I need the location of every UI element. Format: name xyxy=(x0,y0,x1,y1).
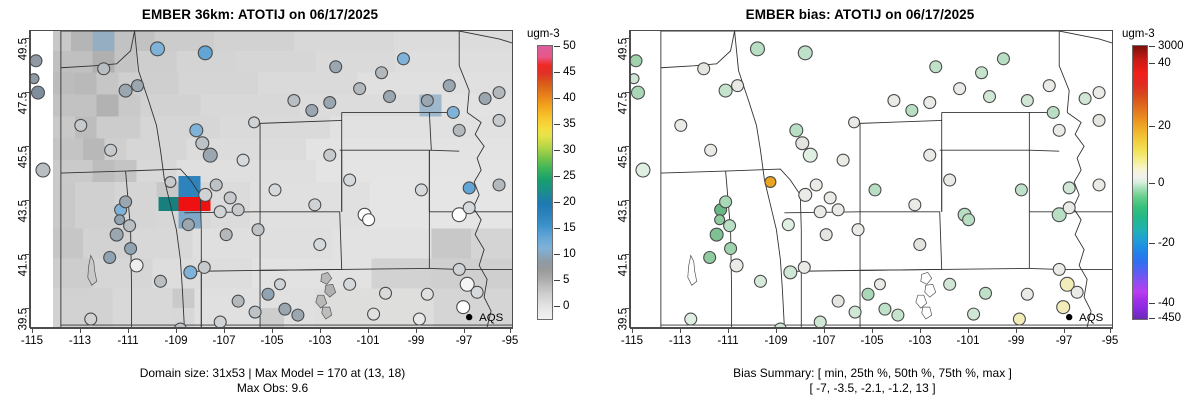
colorbar-tick-label: 20 xyxy=(563,196,576,208)
x-tick-label: -101 xyxy=(956,335,979,347)
y-tick-label: 43.5 xyxy=(617,200,629,222)
x-tick-label: -109 xyxy=(764,335,787,347)
x-tick-label: -103 xyxy=(908,335,931,347)
x-tick-label: -95 xyxy=(502,335,519,347)
x-tick-label: -101 xyxy=(356,335,379,347)
y-tick-label: 45.5 xyxy=(17,146,29,168)
bias-y-axis: 49.5 47.5 45.5 43.5 41.5 39.5 xyxy=(608,30,630,328)
aqs-marker-icon xyxy=(466,314,472,320)
colorbar-tick-label: 0 xyxy=(563,300,569,312)
x-tick-label: -113 xyxy=(669,335,691,347)
colorbar-tick-label: 40 xyxy=(1158,57,1171,69)
model-colorbar-gradient xyxy=(537,45,553,320)
figure-canvas: EMBER 36km: ATOTIJ on 06/17/2025 xyxy=(0,0,1200,409)
colorbar-tick-label: 10 xyxy=(563,248,576,260)
x-tick-label: -97 xyxy=(456,335,473,347)
model-map-plot: AQS xyxy=(30,30,513,328)
aqs-marker-icon xyxy=(1066,314,1072,320)
x-tick-label: -105 xyxy=(860,335,883,347)
x-tick-label: -103 xyxy=(308,335,331,347)
panel-model: EMBER 36km: ATOTIJ on 06/17/2025 xyxy=(0,0,600,409)
model-caption-line-2: Max Obs: 9.6 xyxy=(0,381,545,396)
colorbar-tick-label: 15 xyxy=(563,222,576,234)
model-raster xyxy=(31,31,512,327)
colorbar-tick-label: 0 xyxy=(1158,177,1164,189)
y-tick-label: 49.5 xyxy=(617,38,629,60)
x-tick-label: -111 xyxy=(117,335,138,347)
y-tick-label: 47.5 xyxy=(17,92,29,114)
y-tick-label: 43.5 xyxy=(17,200,29,222)
colorbar-tick-label: 35 xyxy=(563,118,576,130)
y-tick-label: 41.5 xyxy=(617,254,629,276)
aqs-legend-label: AQS xyxy=(1079,312,1104,324)
x-tick-label: -113 xyxy=(69,335,91,347)
model-map-svg: AQS xyxy=(31,31,512,327)
x-tick-label: -105 xyxy=(260,335,283,347)
y-tick-label: 41.5 xyxy=(17,254,29,276)
colorbar-tick-label: 25 xyxy=(563,170,576,182)
bias-caption-line-1: Bias Summary: [ min, 25th %, 50th %, 75t… xyxy=(600,366,1145,381)
colorbar-tick-label: 45 xyxy=(563,66,576,78)
model-colorbar-unit: ugm-3 xyxy=(527,28,560,40)
bias-colorbar: ugm-3 3000 40 20 0 -20 -40 -450 xyxy=(1120,28,1200,338)
bias-caption-line-2: [ -7, -3.5, -2.1, -1.2, 13 ] xyxy=(600,381,1145,396)
aqs-legend-label: AQS xyxy=(479,312,504,324)
x-tick-label: -109 xyxy=(164,335,187,347)
x-tick-label: -95 xyxy=(1102,335,1119,347)
colorbar-tick-label: -20 xyxy=(1158,237,1175,249)
panel-model-title: EMBER 36km: ATOTIJ on 06/17/2025 xyxy=(0,7,520,22)
model-caption-line-1: Domain size: 31x53 | Max Model = 170 at … xyxy=(0,366,545,381)
panel-bias-title: EMBER bias: ATOTIJ on 06/17/2025 xyxy=(600,7,1120,22)
model-y-axis: 49.5 47.5 45.5 43.5 41.5 39.5 xyxy=(8,30,30,328)
y-tick-label: 39.5 xyxy=(17,308,29,330)
colorbar-tick-label: -40 xyxy=(1158,297,1175,309)
x-tick-label: -97 xyxy=(1056,335,1073,347)
x-tick-label: -99 xyxy=(408,335,425,347)
y-axis-line xyxy=(629,30,630,328)
y-tick-label: 47.5 xyxy=(617,92,629,114)
colorbar-tick-label: -450 xyxy=(1158,312,1181,324)
panel-bias: EMBER bias: ATOTIJ on 06/17/2025 xyxy=(600,0,1200,409)
colorbar-tick-label: 20 xyxy=(1158,120,1171,132)
colorbar-tick-label: 3000 xyxy=(1158,40,1184,52)
bias-map-plot: AQS xyxy=(630,30,1113,328)
colorbar-tick-label: 50 xyxy=(563,40,576,52)
x-tick-label: -111 xyxy=(717,335,738,347)
bias-map-svg: AQS xyxy=(631,31,1112,327)
model-x-axis: -115 -113 -111 -109 -107 -105 -103 -101 … xyxy=(30,328,513,354)
y-tick-label: 49.5 xyxy=(17,38,29,60)
y-axis-line xyxy=(29,30,30,328)
x-tick-label: -115 xyxy=(621,335,643,347)
bias-colorbar-unit: ugm-3 xyxy=(1122,28,1155,40)
colorbar-tick-label: 30 xyxy=(563,144,576,156)
y-tick-label: 39.5 xyxy=(617,308,629,330)
x-tick-label: -107 xyxy=(812,335,835,347)
bias-x-axis: -115 -113 -111 -109 -107 -105 -103 -101 … xyxy=(630,328,1113,354)
x-tick-label: -107 xyxy=(212,335,235,347)
x-tick-label: -115 xyxy=(21,335,43,347)
colorbar-tick-label: 40 xyxy=(563,92,576,104)
x-tick-label: -99 xyxy=(1008,335,1025,347)
colorbar-tick-label: 5 xyxy=(563,274,569,286)
bias-colorbar-gradient xyxy=(1132,45,1148,320)
y-tick-label: 45.5 xyxy=(617,146,629,168)
